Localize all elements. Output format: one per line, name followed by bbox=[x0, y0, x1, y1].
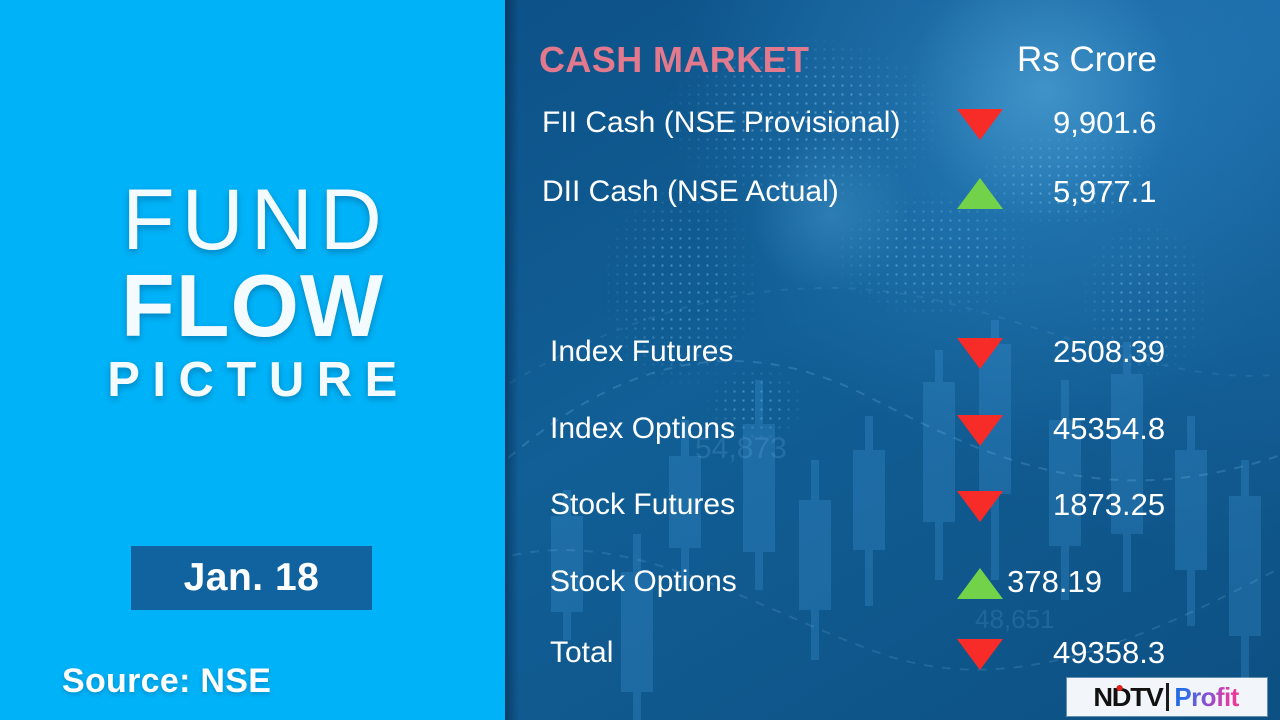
arrow-down-icon bbox=[957, 639, 1003, 670]
arrow-down-icon bbox=[957, 415, 1003, 446]
profit-text: Profit bbox=[1174, 682, 1238, 713]
brand-line-flow: FLOW bbox=[0, 262, 505, 350]
brand-lockup: FUND FLOW PICTURE bbox=[0, 178, 505, 412]
left-brand-panel: FUND FLOW PICTURE Jan. 18 Source: NSE bbox=[0, 0, 505, 720]
panel-divider-shadow bbox=[505, 0, 519, 720]
brand-line-picture: PICTURE bbox=[12, 350, 505, 411]
row-value: 49358.3 bbox=[1053, 630, 1165, 676]
logo-divider bbox=[1166, 683, 1169, 711]
arrow-up-icon bbox=[957, 568, 1003, 599]
ndtv-wordmark: NDTV bbox=[1094, 682, 1163, 713]
arrow-down-icon bbox=[957, 491, 1003, 522]
table-row: Total 49358.3 bbox=[505, 630, 1280, 676]
date-badge: Jan. 18 bbox=[131, 546, 372, 610]
row-label: DII Cash (NSE Actual) bbox=[542, 169, 839, 215]
brand-line-fund: FUND bbox=[6, 178, 505, 262]
ndtv-profit-logo: NDTV Profit bbox=[1067, 678, 1267, 716]
table-row: Index Options 45354.8 bbox=[505, 406, 1280, 452]
row-value: 2508.39 bbox=[1053, 329, 1165, 375]
table-header-unit: Rs Crore bbox=[1017, 40, 1157, 80]
row-value: 5,977.1 bbox=[1053, 169, 1156, 215]
row-value: 1873.25 bbox=[1053, 482, 1165, 528]
ndtv-text: NDTV bbox=[1094, 682, 1163, 712]
row-value: 378.19 bbox=[1007, 559, 1102, 605]
row-label: FII Cash (NSE Provisional) bbox=[542, 100, 900, 146]
date-badge-label: Jan. 18 bbox=[184, 556, 320, 600]
row-label: Stock Options bbox=[550, 559, 737, 605]
table-row: Stock Options 378.19 bbox=[505, 559, 1280, 605]
table-row: FII Cash (NSE Provisional) 9,901.6 bbox=[505, 100, 1280, 146]
table-row: Index Futures 2508.39 bbox=[505, 329, 1280, 375]
fund-flow-table: CASH MARKET Rs Crore FII Cash (NSE Provi… bbox=[505, 0, 1280, 720]
row-label: Index Futures bbox=[550, 329, 733, 375]
row-label: Total bbox=[550, 630, 613, 676]
table-row: DII Cash (NSE Actual) 5,977.1 bbox=[505, 169, 1280, 215]
right-data-panel: 54,873 48,651 CASH MARKET Rs Crore FII C… bbox=[505, 0, 1280, 720]
row-value: 9,901.6 bbox=[1053, 100, 1156, 146]
arrow-down-icon bbox=[957, 338, 1003, 369]
table-header-title: CASH MARKET bbox=[539, 39, 809, 81]
source-attribution: Source: NSE bbox=[62, 662, 271, 701]
row-value: 45354.8 bbox=[1053, 406, 1165, 452]
row-label: Index Options bbox=[550, 406, 735, 452]
table-row: Stock Futures 1873.25 bbox=[505, 482, 1280, 528]
arrow-up-icon bbox=[957, 178, 1003, 209]
row-label: Stock Futures bbox=[550, 482, 735, 528]
arrow-down-icon bbox=[957, 109, 1003, 140]
fund-flow-graphic: FUND FLOW PICTURE Jan. 18 Source: NSE bbox=[0, 0, 1280, 720]
